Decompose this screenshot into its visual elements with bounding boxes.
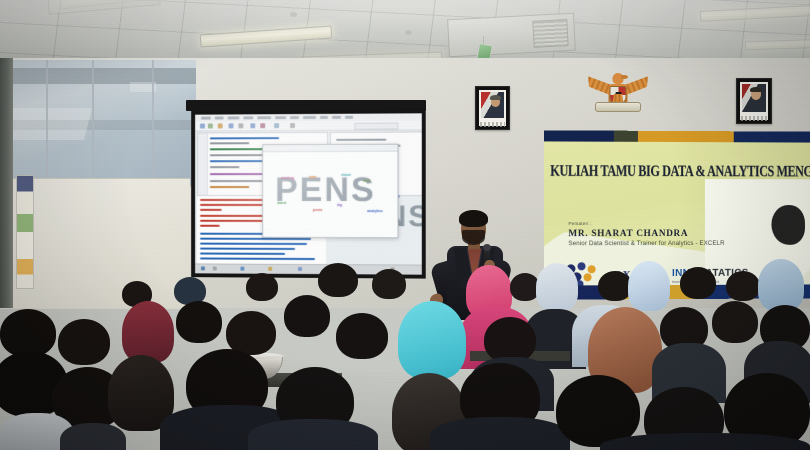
portrait-caption (480, 122, 505, 127)
audience-head (58, 319, 110, 365)
banner-speaker-name: MR. SHARAT CHANDRA (568, 228, 688, 238)
audience-head (0, 309, 56, 357)
banner-stripe-navy (734, 131, 810, 142)
audience-head (336, 313, 388, 359)
projected-desktop: ENS data big text PENS mining word data … (195, 113, 422, 274)
banner-stripe-dark (614, 131, 638, 142)
banner-stripe-gold (638, 131, 734, 142)
presenter-hair (459, 210, 488, 227)
vice-president-portrait (736, 78, 772, 124)
banner-speaker-label: Pemateri : (568, 221, 591, 226)
audience-body (600, 433, 810, 450)
banner-dark-graphic (771, 205, 805, 245)
audience-body (60, 423, 126, 450)
projection-screen: ENS data big text PENS mining word data … (191, 109, 426, 278)
portrait-caption (741, 116, 767, 121)
microphone-head (483, 244, 491, 251)
audience-head (226, 311, 276, 355)
garuda-pancasila-emblem (587, 62, 649, 112)
audience (0, 255, 810, 450)
garuda-beak (621, 75, 628, 79)
audience-hijab (536, 263, 578, 311)
audience-head (176, 301, 222, 343)
audience-body (430, 417, 570, 450)
audience-head (318, 263, 358, 297)
banner-title: KULIAH TAMU BIG DATA & ANALYTICS MENGGU (550, 162, 802, 182)
banner-speaker-role: Senior Data Scientist & Trainer for Anal… (568, 240, 724, 247)
projection-blur (195, 113, 422, 274)
audience-head (284, 295, 330, 337)
portrait-photo (742, 84, 766, 112)
audience-hijab (628, 261, 670, 311)
audience-head (680, 267, 716, 299)
bhinneka-tunggal-ika-scroll (595, 102, 641, 112)
audience-head (372, 269, 406, 299)
audience-head (246, 273, 278, 301)
audience-head (598, 271, 632, 301)
audience-hijab (758, 259, 804, 311)
audience-head (712, 301, 758, 343)
audience-head (726, 271, 760, 301)
audience-hijab (122, 301, 174, 363)
president-portrait (475, 86, 510, 130)
banner-stripe-navy (544, 130, 614, 141)
audience-hijab (398, 301, 466, 379)
audience-body (248, 419, 378, 450)
presenter-beard (462, 230, 485, 245)
lecture-hall-photo: ENS data big text PENS mining word data … (0, 0, 810, 450)
portrait-photo (481, 92, 504, 118)
